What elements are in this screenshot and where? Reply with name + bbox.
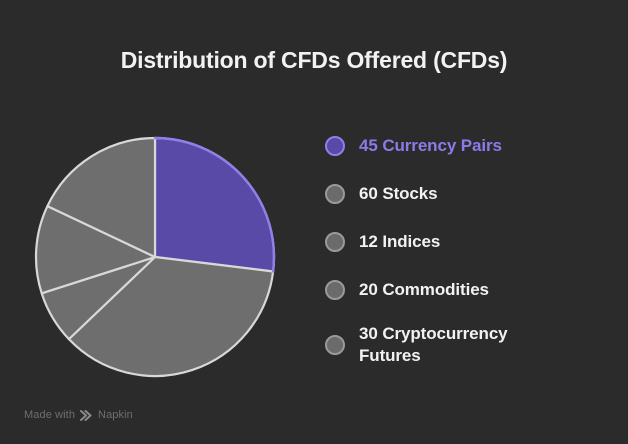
legend-dot-icon xyxy=(325,184,345,204)
legend-dot-icon xyxy=(325,232,345,252)
chart-legend: 45 Currency Pairs 60 Stocks 12 Indices 2… xyxy=(325,128,595,370)
legend-item-currency-pairs[interactable]: 45 Currency Pairs xyxy=(325,128,595,164)
legend-dot-icon xyxy=(325,335,345,355)
chart-canvas: Distribution of CFDs Offered (CFDs) 45 C… xyxy=(0,0,628,444)
legend-dot-icon xyxy=(325,136,345,156)
legend-item-indices[interactable]: 12 Indices xyxy=(325,224,595,260)
watermark: Made with Napkin xyxy=(24,409,133,421)
legend-item-commodities[interactable]: 20 Commodities xyxy=(325,272,595,308)
pie-chart xyxy=(33,135,277,379)
page-title: Distribution of CFDs Offered (CFDs) xyxy=(0,46,628,74)
legend-item-label: 30 Cryptocurrency Futures xyxy=(359,323,508,367)
napkin-chevron-logo-icon xyxy=(80,410,93,421)
legend-item-cryptocurrency-futures[interactable]: 30 Cryptocurrency Futures xyxy=(325,320,595,370)
legend-item-label-line2: Futures xyxy=(359,345,508,367)
pie-chart-svg xyxy=(33,135,277,379)
legend-item-label: 45 Currency Pairs xyxy=(359,135,502,157)
legend-item-label: 60 Stocks xyxy=(359,183,437,205)
legend-item-label: 12 Indices xyxy=(359,231,440,253)
legend-item-label-line1: 30 Cryptocurrency xyxy=(359,323,508,345)
legend-dot-icon xyxy=(325,280,345,300)
legend-item-stocks[interactable]: 60 Stocks xyxy=(325,176,595,212)
pie-slice-group xyxy=(36,138,274,376)
watermark-prefix: Made with xyxy=(24,409,75,421)
pie-slice[interactable] xyxy=(155,138,274,272)
legend-item-label: 20 Commodities xyxy=(359,279,489,301)
watermark-brand: Napkin xyxy=(98,409,133,421)
